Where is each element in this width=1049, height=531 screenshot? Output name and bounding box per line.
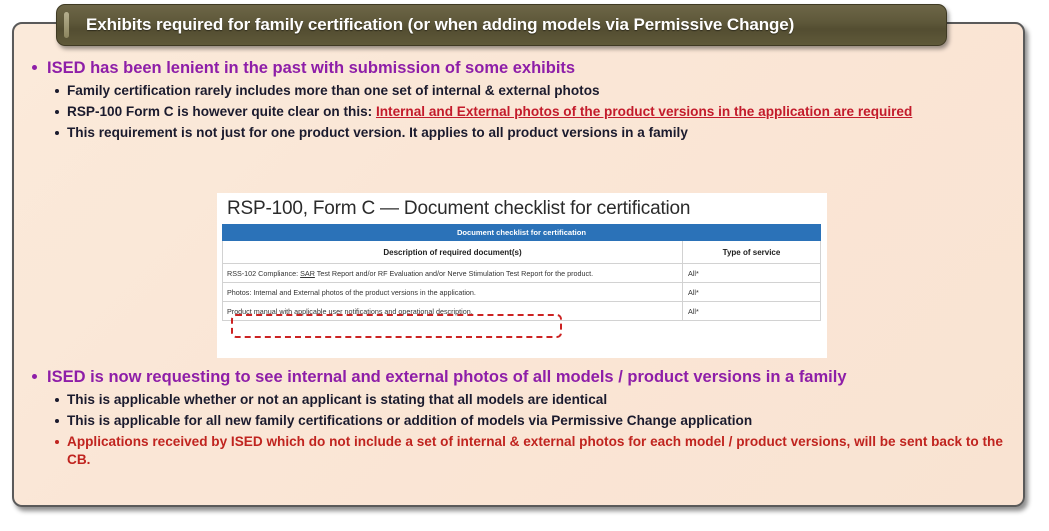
form-c-figure: RSP-100, Form C — Document checklist for… bbox=[217, 193, 827, 358]
table-row: Photos: Internal and External photos of … bbox=[223, 283, 821, 302]
table-row: Product manual with applicable user noti… bbox=[223, 302, 821, 321]
bullet-dot-icon bbox=[55, 110, 59, 114]
row-type-of-service: All* bbox=[683, 283, 821, 302]
list-item-label: Applications received by ISED which do n… bbox=[67, 434, 1003, 467]
section-one: ISED has been lenient in the past with s… bbox=[26, 58, 1011, 79]
bullet-dot-icon bbox=[55, 419, 59, 423]
slide-content: ISED has been lenient in the past with s… bbox=[12, 22, 1025, 507]
row-description: RSS-102 Compliance: SAR Test Report and/… bbox=[223, 264, 683, 283]
bullet-dot-icon bbox=[55, 398, 59, 402]
section-two: ISED is now requesting to see internal a… bbox=[26, 367, 1011, 469]
bullet-dot-icon bbox=[32, 65, 37, 70]
list-item: This is applicable for all new family ce… bbox=[47, 412, 1011, 430]
table-header-row: Description of required document(s) Type… bbox=[223, 241, 821, 264]
list-item-label: This is applicable for all new family ce… bbox=[67, 413, 752, 428]
section-two-heading: ISED is now requesting to see internal a… bbox=[26, 367, 1011, 388]
section-one-bullets: Family certification rarely includes mor… bbox=[47, 82, 1011, 142]
table-banner-row: Document checklist for certification bbox=[223, 225, 821, 241]
list-item-label: This is applicable whether or not an app… bbox=[67, 392, 607, 407]
list-item: RSP-100 Form C is however quite clear on… bbox=[47, 103, 1011, 121]
form-figure-title: RSP-100, Form C — Document checklist for… bbox=[217, 195, 827, 224]
document-checklist-table: Document checklist for certification Des… bbox=[222, 224, 821, 321]
list-item: Applications received by ISED which do n… bbox=[47, 433, 1011, 469]
page-title: Exhibits required for family certificati… bbox=[57, 15, 794, 35]
column-header-type: Type of service bbox=[683, 241, 821, 264]
title-banner: Exhibits required for family certificati… bbox=[56, 4, 947, 46]
bullet-dot-icon bbox=[32, 374, 37, 379]
column-header-description: Description of required document(s) bbox=[223, 241, 683, 264]
row-description: Photos: Internal and External photos of … bbox=[223, 283, 683, 302]
row-type-of-service: All* bbox=[683, 302, 821, 321]
section-one-heading: ISED has been lenient in the past with s… bbox=[26, 58, 1011, 79]
section-two-heading-text: ISED is now requesting to see internal a… bbox=[47, 368, 847, 386]
section-two-bullets: This is applicable whether or not an app… bbox=[47, 391, 1011, 469]
bullet-dot-icon bbox=[55, 440, 59, 444]
list-item-label: This requirement is not just for one pro… bbox=[67, 125, 688, 140]
list-item: This is applicable whether or not an app… bbox=[47, 391, 1011, 409]
table-row: RSS-102 Compliance: SAR Test Report and/… bbox=[223, 264, 821, 283]
banner-left-cap bbox=[64, 12, 69, 38]
list-item: Family certification rarely includes mor… bbox=[47, 82, 1011, 100]
bullet-dot-icon bbox=[55, 131, 59, 135]
list-item-label: Family certification rarely includes mor… bbox=[67, 83, 600, 98]
requirement-emphasis-link: Internal and External photos of the prod… bbox=[376, 104, 912, 119]
list-item-label: RSP-100 Form C is however quite clear on… bbox=[67, 104, 376, 119]
list-item: This requirement is not just for one pro… bbox=[47, 124, 1011, 142]
section-two-heading-list: ISED is now requesting to see internal a… bbox=[26, 367, 1011, 388]
table-banner-label: Document checklist for certification bbox=[223, 225, 821, 241]
bullet-dot-icon bbox=[55, 89, 59, 93]
sar-term: SAR bbox=[300, 269, 315, 278]
section-one-heading-text: ISED has been lenient in the past with s… bbox=[47, 59, 575, 77]
row-type-of-service: All* bbox=[683, 264, 821, 283]
row-description: Product manual with applicable user noti… bbox=[223, 302, 683, 321]
